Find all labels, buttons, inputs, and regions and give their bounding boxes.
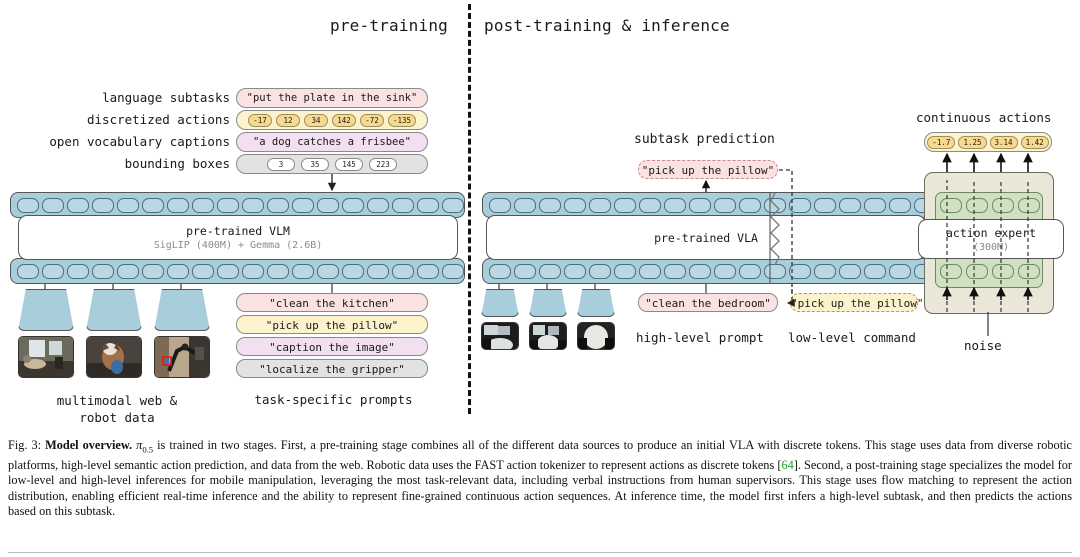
prompt-pick-up-the-pillow: "pick up the pillow": [236, 315, 428, 334]
token-pill: [664, 198, 686, 213]
thumbnail-robot-arm: [154, 336, 210, 378]
discretized-action-token-2: 34: [304, 114, 328, 127]
token-pill: [42, 198, 64, 213]
token-pill: [117, 264, 139, 279]
token-pill: [514, 264, 536, 279]
token-pill: [417, 264, 439, 279]
thumbnail-kitchen: [18, 336, 74, 378]
token-pill: [117, 198, 139, 213]
vision-encoder-r2: [529, 289, 567, 317]
token-pill: [539, 264, 561, 279]
token-pill: [417, 198, 439, 213]
label-high-level-prompt: high-level prompt: [636, 330, 764, 345]
token-pill: [1018, 264, 1040, 279]
token-pill: [292, 198, 314, 213]
prompt-localize-the-gripper: "localize the gripper": [236, 359, 428, 378]
token-pill: [966, 264, 988, 279]
token-pill: [814, 198, 836, 213]
label-bounding-boxes: bounding boxes: [0, 154, 230, 174]
token-pill: [167, 198, 189, 213]
token-pill: [589, 264, 611, 279]
token-row-bounding-boxes: 335145223: [236, 154, 428, 174]
token-pill: [614, 264, 636, 279]
label-continuous-actions: continuous actions: [916, 110, 1051, 125]
token-pill: [167, 264, 189, 279]
token-pill: [92, 264, 114, 279]
token-pill: [839, 264, 861, 279]
label-noise: noise: [964, 338, 1002, 353]
pre-trained-vla-box: pre-trained VLA: [486, 215, 926, 260]
token-pill: [367, 198, 389, 213]
token-pill: [192, 264, 214, 279]
token-pill: [940, 264, 962, 279]
token-pill: [966, 198, 988, 213]
token-pill: [342, 198, 364, 213]
thumbnail-dog: [86, 336, 142, 378]
continuous-action-token-0: -1.7: [927, 136, 955, 149]
token-pill: [142, 198, 164, 213]
page-rule: [8, 552, 1072, 553]
token-pill: [192, 198, 214, 213]
discretized-action-token-1: 12: [276, 114, 300, 127]
token-pill: [514, 198, 536, 213]
token-pill: [17, 264, 39, 279]
token-pill: [392, 198, 414, 213]
prompt-caption-the-image: "caption the image": [236, 337, 428, 356]
token-row-discretized-actions: -171234142-72-135: [236, 110, 428, 130]
vision-encoder-r1: [481, 289, 519, 317]
thumbnail-bedroom-1: [481, 322, 519, 350]
vla-token-strip-bottom: [482, 258, 932, 284]
discretized-action-token-4: -72: [360, 114, 384, 127]
action-expert-token-row-top: [938, 192, 1040, 218]
token-pill: [789, 264, 811, 279]
token-pill: [714, 264, 736, 279]
token-pill: [342, 264, 364, 279]
vision-encoder-1: [18, 289, 74, 331]
caption-citation[interactable]: 64: [781, 458, 793, 472]
label-task-specific-prompts: task-specific prompts: [246, 392, 421, 407]
thumbnail-bedroom-3: [577, 322, 615, 350]
token-pill: [367, 264, 389, 279]
token-pill: [589, 198, 611, 213]
pre-trained-vlm-box: pre-trained VLM SigLIP (400M) + Gemma (2…: [18, 215, 458, 260]
label-discretized-actions: discretized actions: [0, 110, 230, 130]
subtask-prediction-box: "pick up the pillow": [638, 160, 778, 179]
action-expert-token-row-bottom: [938, 258, 1040, 284]
action-expert-box: action expert (300M): [918, 219, 1064, 259]
label-open-vocabulary-captions: open vocabulary captions: [0, 132, 230, 152]
token-pill: [539, 198, 561, 213]
stage-divider: [468, 4, 471, 414]
vision-encoder-3: [154, 289, 210, 331]
continuous-actions-token-row: -1.71.253.141.42: [924, 132, 1052, 152]
token-pill: [267, 198, 289, 213]
token-pill: [1018, 198, 1040, 213]
token-pill: [317, 198, 339, 213]
label-multimodal-data: multimodal web & robot data: [22, 392, 212, 426]
label-subtask-prediction: subtask prediction: [634, 132, 775, 147]
bounding-box-token-1: 35: [301, 158, 329, 171]
token-pill: [564, 264, 586, 279]
token-pill: [564, 198, 586, 213]
caption-title: Model overview.: [45, 438, 132, 452]
token-pill: [639, 264, 661, 279]
header-post-training: post-training & inference: [484, 16, 730, 35]
vision-encoder-2: [86, 289, 142, 331]
discretized-action-token-0: -17: [248, 114, 272, 127]
figure-caption: Fig. 3: Model overview. π0.5 is trained …: [8, 438, 1072, 519]
token-pill: [242, 264, 264, 279]
vlm-token-strip-bottom: [10, 258, 465, 284]
token-pill: [864, 264, 886, 279]
figure-model-overview: pre-training post-training & inference l…: [0, 0, 1080, 432]
token-pill: [789, 198, 811, 213]
header-pre-training: pre-training: [330, 16, 448, 35]
bounding-box-token-2: 145: [335, 158, 363, 171]
vlm-subtitle: SigLIP (400M) + Gemma (2.6B): [154, 240, 323, 251]
thumbnail-bedroom-2: [529, 322, 567, 350]
token-pill: [689, 264, 711, 279]
bounding-box-token-0: 3: [267, 158, 295, 171]
token-pill: [42, 264, 64, 279]
token-pill: [217, 198, 239, 213]
token-pill: [814, 264, 836, 279]
token-pill: [17, 198, 39, 213]
continuous-action-token-3: 1.42: [1021, 136, 1049, 149]
label-multimodal-line2: robot data: [79, 410, 154, 425]
token-pill: [614, 198, 636, 213]
discretized-action-token-3: 142: [332, 114, 356, 127]
token-pill: [392, 264, 414, 279]
input-label-column: language subtasks discretized actions op…: [0, 88, 230, 176]
caption-pi-sub: 0.5: [142, 444, 153, 454]
token-pill: [839, 198, 861, 213]
token-pill: [489, 198, 511, 213]
token-pill: [764, 264, 786, 279]
token-pill: [442, 198, 464, 213]
token-pill: [489, 264, 511, 279]
action-expert-title: action expert: [946, 226, 1036, 240]
continuous-action-token-1: 1.25: [958, 136, 986, 149]
discretized-action-token-5: -135: [388, 114, 416, 127]
vlm-title: pre-trained VLM: [186, 224, 290, 238]
token-pill: [142, 264, 164, 279]
token-pill: [764, 198, 786, 213]
token-pill: [267, 264, 289, 279]
token-pill: [242, 198, 264, 213]
token-pill: [889, 198, 911, 213]
bounding-box-token-3: 223: [369, 158, 397, 171]
token-pill: [689, 198, 711, 213]
token-pill: [639, 198, 661, 213]
token-pill: [67, 264, 89, 279]
token-pill: [92, 198, 114, 213]
token-pill: [864, 198, 886, 213]
continuous-action-token-2: 3.14: [990, 136, 1018, 149]
token-pill: [889, 264, 911, 279]
label-multimodal-line1: multimodal web &: [57, 393, 177, 408]
token-row-language-subtask: "put the plate in the sink": [236, 88, 428, 108]
token-pill: [739, 198, 761, 213]
token-pill: [217, 264, 239, 279]
label-low-level-command: low-level command: [788, 330, 916, 345]
token-pill: [940, 198, 962, 213]
token-pill: [67, 198, 89, 213]
label-language-subtasks: language subtasks: [0, 88, 230, 108]
token-pill: [292, 264, 314, 279]
token-pill: [714, 198, 736, 213]
token-pill: [739, 264, 761, 279]
vla-title: pre-trained VLA: [654, 231, 758, 245]
caption-figure-number: Fig. 3:: [8, 438, 41, 452]
token-pill: [992, 264, 1014, 279]
token-pill: [992, 198, 1014, 213]
token-row-caption: "a dog catches a frisbee": [236, 132, 428, 152]
action-expert-subtitle: (300M): [973, 242, 1009, 253]
token-pill: [442, 264, 464, 279]
high-level-prompt-box: "clean the bedroom": [638, 293, 778, 312]
token-pill: [317, 264, 339, 279]
vision-encoder-r3: [577, 289, 615, 317]
prompt-clean-the-kitchen: "clean the kitchen": [236, 293, 428, 312]
token-pill: [664, 264, 686, 279]
low-level-command-box: "pick up the pillow": [790, 293, 918, 312]
